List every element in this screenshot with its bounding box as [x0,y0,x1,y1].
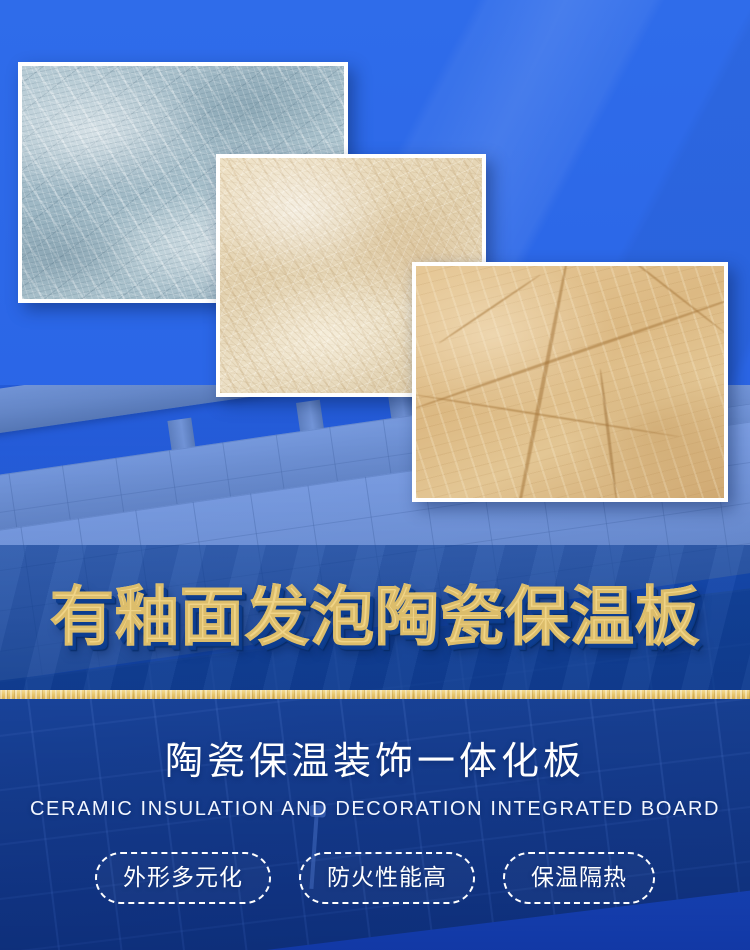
golden-marble-texture [416,266,724,498]
marble-vein [438,273,541,344]
subtitle-chinese: 陶瓷保温装饰一体化板 [0,737,750,785]
product-poster: 有釉面发泡陶瓷保温板 陶瓷保温装饰一体化板 CERAMIC INSULATION… [0,0,750,950]
feature-pill-row: 外形多元化 防火性能高 保温隔热 [0,852,750,904]
marble-vein [412,290,728,411]
marble-vein [510,262,571,502]
sample-tile-golden [412,262,728,502]
marble-vein [602,262,728,336]
subtitle-english: CERAMIC INSULATION AND DECORATION INTEGR… [0,796,750,822]
feature-pill-shape-variety[interactable]: 外形多元化 [95,852,271,904]
feature-pill-thermal-insulation[interactable]: 保温隔热 [503,852,655,904]
page-title: 有釉面发泡陶瓷保温板 [0,582,750,654]
marble-vein [412,393,679,438]
gold-divider-rule [0,690,750,699]
feature-pill-fire-resistance[interactable]: 防火性能高 [299,852,475,904]
marble-vein [599,368,618,502]
